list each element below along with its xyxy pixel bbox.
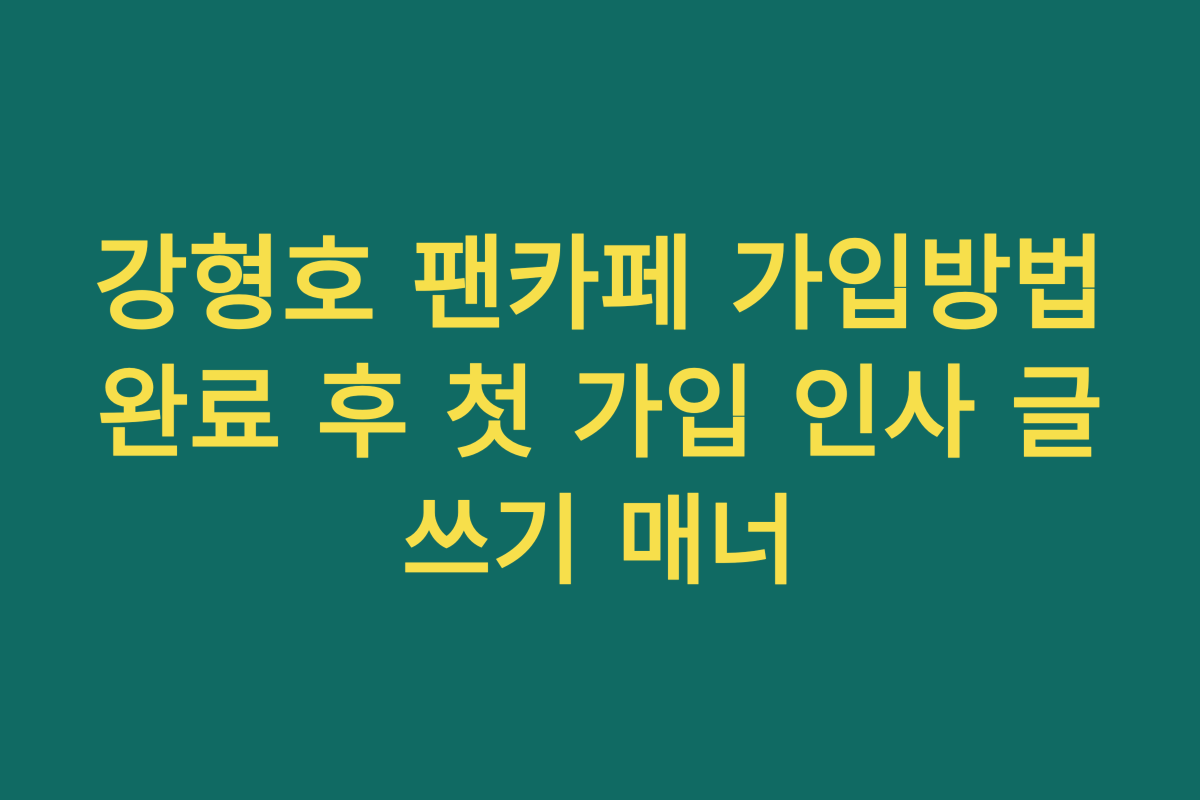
headline-block: 강형호 팬카페 가입방법 완료 후 첫 가입 인사 글 쓰기 매너 [0,222,1200,606]
headline-line-1: 강형호 팬카페 가입방법 [0,222,1200,350]
headline-line-2: 완료 후 첫 가입 인사 글 [0,350,1200,478]
thumbnail-card: 강형호 팬카페 가입방법 완료 후 첫 가입 인사 글 쓰기 매너 [0,0,1200,800]
headline-line-3: 쓰기 매너 [0,478,1200,606]
